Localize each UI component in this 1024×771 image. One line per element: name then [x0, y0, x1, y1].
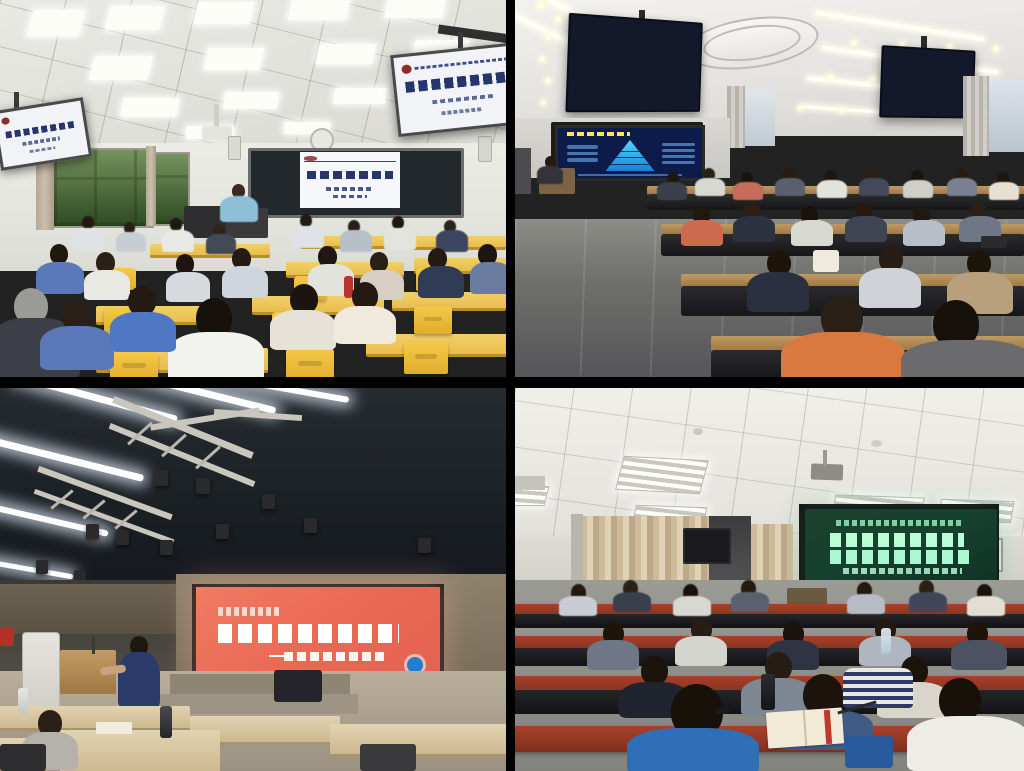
audience-torso [859, 268, 921, 308]
slide-subtitle-text [326, 187, 374, 190]
audience-torso [162, 230, 194, 252]
stage-spotlight [86, 524, 99, 539]
projector-mount [823, 450, 827, 466]
presentation-slide-title [567, 132, 630, 136]
audience-torso [909, 592, 947, 612]
downlight [839, 108, 844, 113]
presenter-torso [220, 196, 258, 222]
eyeglasses [715, 708, 729, 714]
audience-torso [907, 716, 1024, 771]
audience-torso [731, 592, 769, 612]
collage-panel-bottom-right[interactable] [515, 388, 1024, 771]
window [745, 90, 775, 146]
audience-torso [168, 332, 264, 377]
ceiling-light-panel [333, 88, 387, 104]
ceiling-light-panel [26, 10, 85, 36]
slide-left-callout [567, 145, 599, 149]
lecture-chair [360, 744, 416, 771]
audience-torso [206, 234, 236, 254]
audience-torso [334, 306, 396, 344]
stage-spotlight [160, 540, 173, 555]
main-projection-screen[interactable] [300, 152, 400, 208]
downlight [827, 74, 833, 80]
wall-speaker [478, 136, 492, 162]
stage-spotlight [262, 494, 275, 509]
audience-torso [627, 728, 759, 771]
slide-eyebrow-text [218, 607, 281, 615]
audience-torso [673, 596, 711, 616]
university-logo [304, 156, 317, 161]
ceiling-monitor-left[interactable] [565, 13, 702, 112]
lecture-desk [60, 730, 220, 771]
ceiling-light-panel [120, 98, 180, 117]
collage-divider-horizontal [0, 377, 1024, 388]
smoke-detector [693, 428, 703, 435]
ceiling-light-panel [288, 0, 351, 20]
stage-spotlight [36, 560, 48, 574]
hanging-screen-left-footer [30, 146, 56, 153]
audience-torso [587, 640, 639, 670]
stage-spotlight [196, 478, 210, 494]
photo-collage [0, 0, 1024, 771]
water-bottle [761, 674, 775, 710]
audience-torso [967, 596, 1005, 616]
curtain [146, 146, 156, 226]
pyramid-diagram [606, 140, 655, 171]
audience-torso [681, 220, 723, 246]
water-bottle [160, 706, 172, 738]
slide-eyebrow-text [836, 520, 963, 526]
classroom-lecture-scene [0, 0, 506, 377]
audience-torso [733, 216, 775, 242]
downlight [555, 16, 562, 23]
screen-hanging-arm [14, 92, 19, 108]
audience-torso [747, 272, 809, 312]
audience-torso [989, 182, 1019, 200]
ceiling-light-panel [316, 44, 376, 64]
slide-right-callout [662, 161, 695, 164]
audience-torso [384, 228, 416, 250]
slide-title-line1 [830, 533, 964, 546]
ceiling-light-panel [105, 6, 165, 30]
audience-torso [72, 228, 104, 250]
ceiling-light-panel [223, 92, 280, 109]
notebook [96, 722, 132, 734]
collage-panel-top-left[interactable] [0, 0, 506, 377]
speaker-cabinet [274, 670, 322, 702]
slide-badge-icon [407, 657, 423, 673]
slide-title-text [307, 171, 393, 179]
audience-torso [613, 592, 651, 612]
slide-title-text [218, 624, 399, 643]
stage-spotlight [154, 470, 168, 486]
audience-torso [116, 232, 146, 252]
water-bottle [18, 688, 28, 714]
downlight [871, 76, 877, 82]
slide-left-callout [567, 158, 599, 162]
audience-torso [292, 226, 324, 248]
downlight [541, 100, 546, 105]
slide-footer-text [333, 195, 367, 198]
downlight [993, 46, 999, 52]
hanging-screen-right-subtext [432, 94, 493, 105]
water-bottle [881, 628, 891, 654]
pyramid-divider [606, 157, 655, 158]
pyramid-divider [606, 164, 655, 165]
microphone [92, 636, 95, 654]
ceiling-light-panel [384, 0, 446, 18]
downlight [537, 2, 544, 9]
hanging-screen-right-headline [405, 70, 506, 92]
auditorium-scene [0, 388, 506, 771]
presenter-torso [537, 166, 563, 184]
slide-left-callout [567, 152, 599, 156]
stage-spotlight [304, 518, 317, 533]
audience-torso [559, 596, 597, 616]
downlight [797, 106, 802, 111]
audience-torso [40, 326, 114, 370]
louvered-light-fixture [615, 456, 709, 494]
downlight [545, 34, 551, 40]
lecture-chair [0, 744, 46, 771]
slide-subtitle-text [843, 568, 962, 574]
classroom-chair [414, 306, 452, 334]
audience-head [370, 252, 388, 272]
wall-monitor[interactable] [683, 528, 731, 564]
downlight [545, 78, 551, 84]
hanging-screen-left-logo [1, 117, 10, 125]
audience-torso [675, 636, 727, 666]
audience-torso [847, 594, 885, 614]
hanging-screen-right-header-rule [414, 56, 506, 71]
audience-torso [947, 178, 977, 196]
audience-torso [733, 182, 763, 200]
presenter-torso [118, 652, 160, 708]
audience-torso [166, 272, 210, 302]
ceiling-light-panel [89, 56, 153, 80]
ceiling-light-panel [204, 48, 265, 70]
audience-torso [657, 182, 687, 200]
lecture-desk [330, 724, 506, 757]
slide-header-rule [304, 156, 396, 162]
audience-torso [340, 230, 372, 252]
air-vent [515, 476, 545, 490]
audience-torso [901, 340, 1024, 377]
lecture-hall-scene [515, 0, 1024, 377]
backpack [845, 736, 893, 768]
audience-torso [859, 178, 889, 196]
slide-title-line2 [830, 550, 972, 563]
fire-extinguisher-sign [0, 628, 14, 646]
audience-torso [36, 262, 84, 294]
audience-head [176, 254, 194, 274]
hanging-screen-right-logo [401, 65, 412, 75]
hanging-screen-left-subtext [22, 137, 60, 146]
smoke-detector [871, 440, 882, 447]
audience-torso [222, 266, 268, 298]
audience-torso [951, 640, 1007, 670]
collage-panel-bottom-left[interactable] [0, 388, 506, 771]
audience-torso [84, 270, 130, 300]
audience-torso [775, 178, 805, 196]
audience-torso [695, 178, 725, 196]
downlight [539, 56, 545, 62]
training-classroom-scene [515, 388, 1024, 771]
downlight [851, 40, 857, 46]
ceiling-monitor-right[interactable] [879, 45, 975, 118]
audience-torso [781, 332, 905, 377]
hanging-screen-right[interactable] [390, 41, 506, 137]
pyramid-divider [606, 151, 655, 152]
bench-seatback [515, 614, 1024, 628]
step-rail [515, 148, 531, 194]
slide-right-callout [662, 149, 695, 152]
white-bag [813, 250, 839, 272]
audience-torso [470, 262, 506, 294]
classroom-chair [110, 352, 158, 377]
audience-torso [110, 312, 176, 352]
audience-torso [903, 180, 933, 198]
hanging-screen-right-footer [441, 107, 483, 115]
projector [811, 463, 844, 480]
audience-torso [270, 310, 336, 350]
classroom-chair [286, 348, 334, 377]
laptop [981, 236, 1007, 248]
wall-speaker [228, 136, 241, 160]
classroom-chair [404, 342, 448, 374]
stage-spotlight [116, 530, 129, 545]
slide-right-callout [662, 155, 695, 158]
audience-torso [791, 220, 833, 246]
audience-head [641, 656, 668, 685]
front-presentation-screen[interactable] [555, 125, 705, 181]
audience-torso [817, 180, 847, 198]
audience-torso [418, 266, 464, 298]
curtain [963, 76, 989, 156]
slide-subtitle-text [284, 652, 386, 662]
collage-panel-top-right[interactable] [515, 0, 1024, 377]
hanging-screen-left-headline [5, 121, 74, 138]
window [989, 80, 1024, 152]
notebook [766, 707, 844, 748]
stage-spotlight [418, 538, 431, 553]
audience-head [50, 244, 68, 264]
ceiling-light-panel [193, 2, 254, 24]
stage-spotlight [216, 524, 229, 539]
slide-right-callout [662, 143, 695, 146]
audience-torso [845, 216, 887, 242]
striped-shirt [843, 668, 913, 708]
audience-torso [903, 220, 945, 246]
